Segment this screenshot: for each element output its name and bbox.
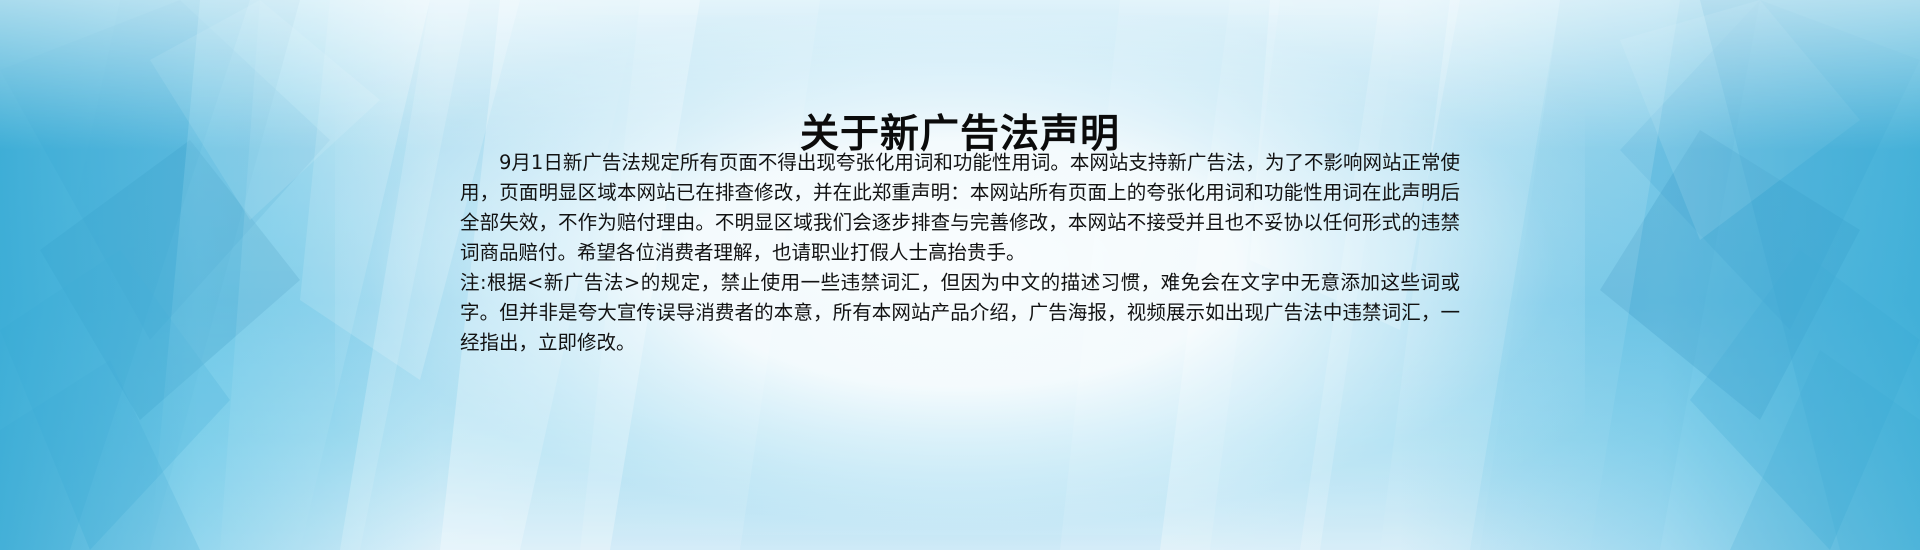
statement-paragraph-note: 注:根据<新广告法>的规定，禁止使用一些违禁词汇，但因为中文的描述习惯，难免会在… xyxy=(460,268,1460,358)
statement-paragraph-main: 9月1日新广告法规定所有页面不得出现夸张化用词和功能性用词。本网站支持新广告法，… xyxy=(460,148,1460,268)
advertising-law-statement-banner: 关于新广告法声明 9月1日新广告法规定所有页面不得出现夸张化用词和功能性用词。本… xyxy=(0,0,1920,550)
statement-content: 关于新广告法声明 9月1日新广告法规定所有页面不得出现夸张化用词和功能性用词。本… xyxy=(460,0,1460,550)
statement-body: 9月1日新广告法规定所有页面不得出现夸张化用词和功能性用词。本网站支持新广告法，… xyxy=(460,148,1460,358)
